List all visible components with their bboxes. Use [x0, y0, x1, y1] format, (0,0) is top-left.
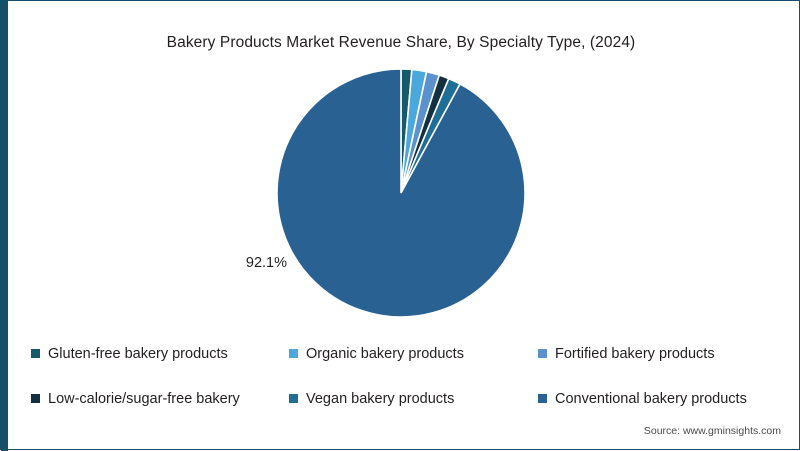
legend-item-conventional[interactable]: Conventional bakery products	[538, 391, 788, 407]
legend-item-vegan[interactable]: Vegan bakery products	[289, 391, 538, 407]
legend-item-low-calorie[interactable]: Low-calorie/sugar-free bakery	[31, 391, 289, 407]
legend-label: Vegan bakery products	[306, 391, 454, 407]
legend-label: Conventional bakery products	[555, 391, 747, 407]
chart-legend: Gluten-free bakery products Organic bake…	[1, 331, 800, 421]
legend-swatch-icon	[289, 394, 298, 403]
page-title: Bakery Products Market Revenue Share, By…	[1, 34, 800, 52]
legend-swatch-icon	[31, 394, 40, 403]
pie-chart-area: 92.1%	[1, 57, 800, 329]
legend-swatch-icon	[31, 349, 40, 358]
legend-label: Fortified bakery products	[555, 346, 715, 362]
legend-label: Low-calorie/sugar-free bakery	[48, 391, 240, 407]
legend-row: Low-calorie/sugar-free bakery Vegan bake…	[1, 376, 800, 421]
legend-label: Gluten-free bakery products	[48, 346, 228, 362]
legend-item-organic[interactable]: Organic bakery products	[289, 346, 538, 362]
legend-swatch-icon	[538, 349, 547, 358]
source-attribution: Source: www.gminsights.com	[644, 425, 781, 437]
pie-slices	[277, 69, 525, 317]
slice-percentage-label: 92.1%	[197, 255, 287, 271]
legend-swatch-icon	[289, 349, 298, 358]
pie-slice[interactable]	[277, 69, 525, 317]
legend-item-gluten-free[interactable]: Gluten-free bakery products	[31, 346, 289, 362]
legend-item-fortified[interactable]: Fortified bakery products	[538, 346, 788, 362]
legend-label: Organic bakery products	[306, 346, 464, 362]
pie-chart	[276, 68, 526, 318]
legend-row: Gluten-free bakery products Organic bake…	[1, 331, 800, 376]
chart-card: Bakery Products Market Revenue Share, By…	[0, 0, 800, 450]
legend-swatch-icon	[538, 394, 547, 403]
